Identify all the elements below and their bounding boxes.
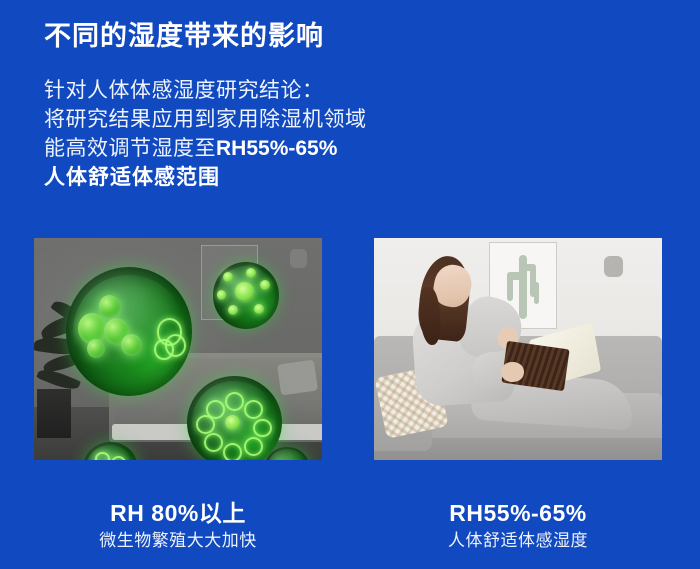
microbe-blob (99, 295, 121, 318)
microbe-spike (260, 280, 270, 290)
body-copy-line-2: 将研究结果应用到家用除湿机领域 (44, 105, 367, 134)
microbe-spike (223, 272, 233, 282)
microbe-spike (246, 268, 256, 278)
microbe-ring (154, 339, 173, 360)
page-title: 不同的湿度带来的影响 (44, 20, 324, 54)
caption-left-title: RH 80%以上 (34, 498, 322, 528)
microbe-core (235, 282, 254, 301)
microbe-ring (95, 452, 110, 460)
microbe-spike (217, 290, 226, 299)
caption-left-subtitle: 微生物繁殖大大加快 (34, 528, 322, 554)
microbe-large (66, 267, 193, 396)
cactus-arm (523, 264, 536, 272)
caption-right-subtitle: 人体舒适体感湿度 (374, 528, 662, 554)
wall-switch-icon (290, 249, 307, 268)
microbe-lower-right (187, 376, 282, 460)
microbe-ring (204, 433, 223, 452)
microbe-core (225, 415, 240, 430)
photo-panel-high-humidity (34, 238, 322, 460)
body-copy-line-3-emphasis: RH55%-65% (216, 137, 337, 160)
microbe-spike (228, 305, 238, 315)
microbe-ring (196, 415, 215, 434)
sofa-cushion (277, 360, 318, 396)
microbe-blob (121, 334, 141, 356)
caption-comfort-humidity: RH55%-65% 人体舒适体感湿度 (374, 498, 662, 554)
wall-switch-icon (604, 256, 623, 277)
caption-right-title: RH55%-65% (374, 498, 662, 528)
microbe-ring (244, 437, 263, 456)
microbe-medium (213, 262, 279, 329)
microbe-ring (244, 400, 263, 419)
microbe-ring (253, 419, 272, 438)
scene-microbe-room (34, 238, 322, 460)
microbe-ring (225, 392, 244, 411)
caption-high-humidity: RH 80%以上 微生物繁殖大大加快 (34, 498, 322, 554)
cactus-arm (507, 272, 523, 280)
microbe-ring (111, 456, 126, 460)
humidity-comparison-slide: 不同的湿度带来的影响 针对人体体感湿度研究结论： 将研究结果应用到家用除湿机领域… (0, 0, 700, 569)
microbe-blob (87, 339, 105, 358)
person-hand-holding-book (501, 362, 524, 382)
microbe-spike (254, 304, 264, 314)
body-copy-line-1: 针对人体体感湿度研究结论： (44, 76, 367, 105)
plant-pot (37, 389, 72, 438)
body-copy: 针对人体体感湿度研究结论： 将研究结果应用到家用除湿机领域 能高效调节湿度至RH… (44, 76, 367, 192)
body-copy-line-3-prefix: 能高效调节湿度至 (44, 137, 216, 160)
microbe-ring (223, 443, 242, 460)
scene-woman-reading (374, 238, 662, 460)
body-copy-line-3: 能高效调节湿度至RH55%-65% (44, 134, 367, 163)
body-copy-line-4: 人体舒适体感范围 (44, 163, 367, 192)
photo-panel-comfort-humidity (374, 238, 662, 460)
cactus-arm (534, 282, 539, 304)
